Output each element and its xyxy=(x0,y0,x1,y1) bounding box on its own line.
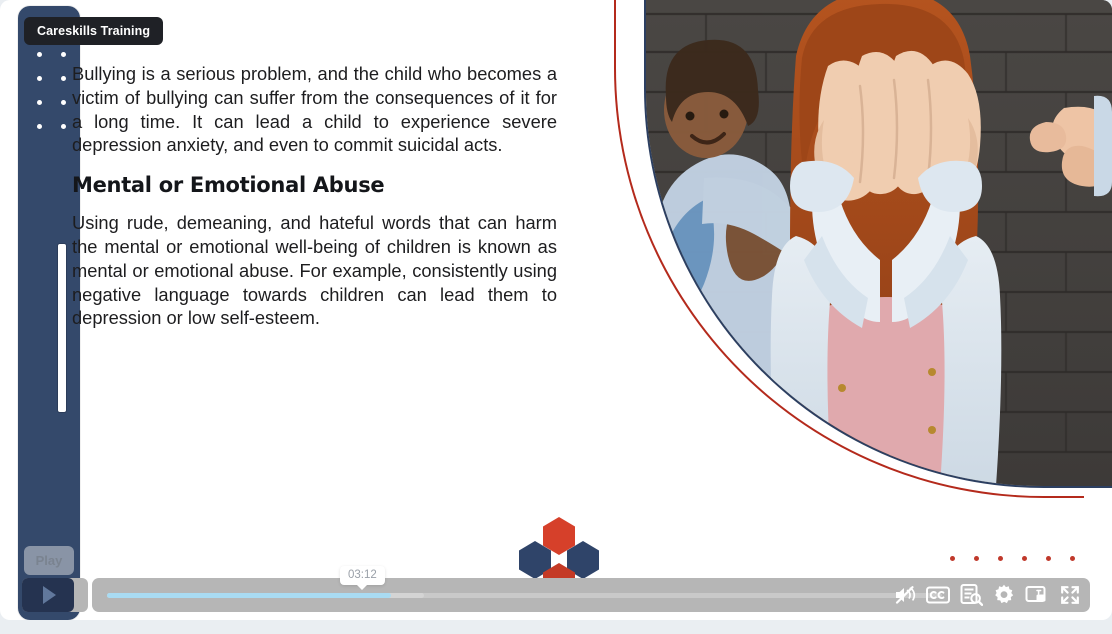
chapter-marker-dot xyxy=(1070,556,1075,561)
lesson-paragraph-2: Using rude, demeaning, and hateful words… xyxy=(72,211,557,330)
lesson-heading: Mental or Emotional Abuse xyxy=(72,173,557,197)
chapter-marker-dot xyxy=(950,556,955,561)
control-icon-group xyxy=(893,578,1082,612)
rail-dot xyxy=(37,100,42,105)
play-button[interactable] xyxy=(22,578,74,612)
rail-dot xyxy=(37,76,42,81)
transcript-search-icon[interactable] xyxy=(959,583,983,607)
left-navigation-rail xyxy=(18,6,80,620)
video-control-bar xyxy=(92,578,1090,612)
lesson-text-column: Bullying is a serious problem, and the c… xyxy=(72,62,557,330)
chapter-marker-dot xyxy=(998,556,1003,561)
chapter-marker-dot xyxy=(1046,556,1051,561)
chapter-marker-dots xyxy=(950,556,1090,566)
course-player-card: Careskills Training Bullying is a seriou… xyxy=(0,0,1112,620)
scrubber-time-tooltip: 03:12 xyxy=(340,566,385,585)
lesson-paragraph-1: Bullying is a serious problem, and the c… xyxy=(72,62,557,157)
rail-dot xyxy=(61,124,66,129)
course-title-tooltip: Careskills Training xyxy=(24,17,163,45)
rail-dot xyxy=(61,100,66,105)
chapter-marker-dot xyxy=(974,556,979,561)
settings-gear-icon[interactable] xyxy=(992,583,1016,607)
play-button-tooltip: Play xyxy=(24,546,74,575)
progress-bar-track[interactable] xyxy=(107,593,942,598)
progress-bar-hit-area[interactable] xyxy=(107,584,942,606)
play-triangle-icon xyxy=(43,586,56,604)
rail-dot xyxy=(37,124,42,129)
closed-captions-icon[interactable] xyxy=(926,583,950,607)
rail-dot xyxy=(61,52,66,57)
picture-in-picture-icon[interactable] xyxy=(1025,583,1049,607)
bullying-photo xyxy=(646,0,1112,486)
scroll-position-indicator[interactable] xyxy=(58,244,66,412)
rail-dot xyxy=(61,76,66,81)
lesson-media xyxy=(612,0,1112,500)
chapter-marker-dot xyxy=(1022,556,1027,561)
fullscreen-icon[interactable] xyxy=(1058,583,1082,607)
volume-muted-icon[interactable] xyxy=(893,583,917,607)
rail-dot xyxy=(37,52,42,57)
